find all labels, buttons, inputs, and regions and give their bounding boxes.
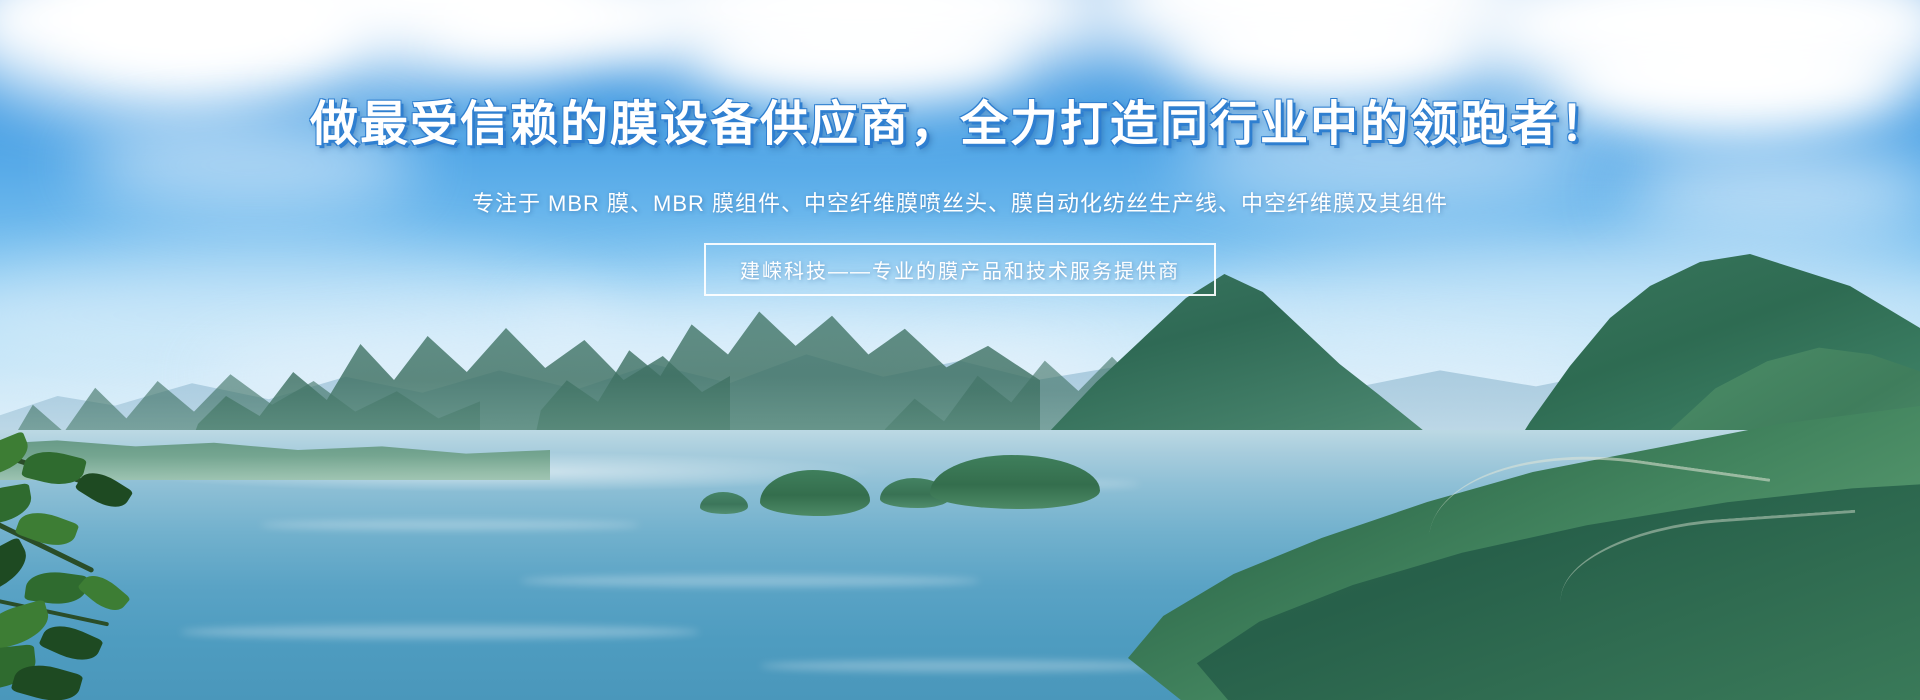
hero-banner: 做最受信赖的膜设备供应商，全力打造同行业中的领跑者！ 专注于 MBR 膜、MBR… (0, 0, 1920, 700)
tagline-box[interactable]: 建嵘科技——专业的膜产品和技术服务提供商 (704, 243, 1216, 296)
banner-tagline: 建嵘科技——专业的膜产品和技术服务提供商 (740, 255, 1180, 284)
foreground-foliage (0, 430, 200, 700)
